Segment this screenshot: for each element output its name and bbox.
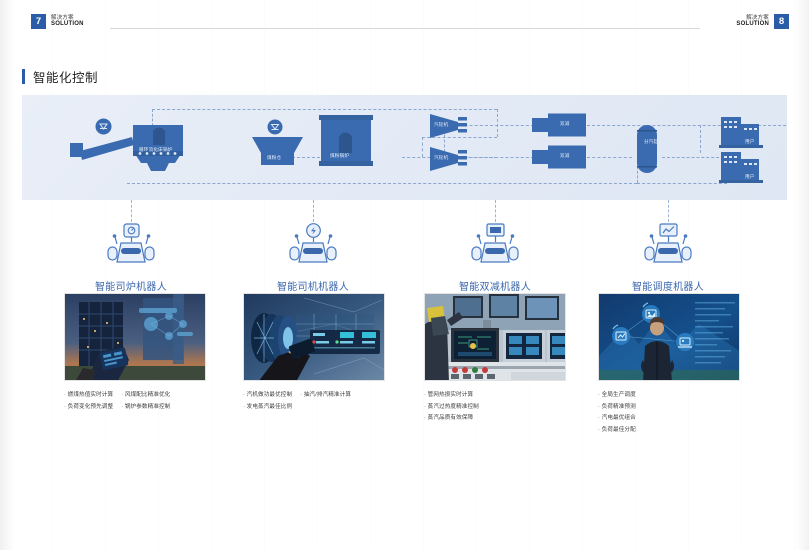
robot-driver-label: 智能司机机器人: [248, 278, 378, 293]
bullet-item: 风煤配比精准优化: [121, 390, 170, 398]
card-stoker-bullet-col-2: 风煤配比精准优化 锅炉参数精准控制: [121, 390, 170, 410]
reducer-2-label: 双减: [560, 153, 570, 159]
steam-turbine-1-node: 汽轮机: [428, 112, 472, 145]
slide-root: 7 解决方案 SOLUTION 解决方案 SOLUTION 8 智能化控制: [0, 0, 809, 550]
flow-line-user-bottom: [637, 183, 727, 184]
card-dispatch-photo[interactable]: [598, 293, 740, 381]
bullet-item: 蒸汽品质有效保障: [424, 413, 479, 421]
robot-driver[interactable]: 智能司机机器人: [248, 222, 378, 293]
bullet-item: 负荷精准预测: [598, 402, 636, 410]
user-1-label: 用户: [745, 139, 755, 145]
header-left-number-badge: 7: [31, 14, 46, 29]
user-2-node: 用户: [719, 150, 765, 189]
section-title: 智能化控制: [22, 67, 98, 86]
bullet-item: 蒸汽过热度精准控制: [424, 402, 479, 410]
robot-bolt-icon: [284, 222, 342, 268]
user-1-node: 用户: [719, 115, 765, 154]
robot-dispatch[interactable]: 智能调度机器人: [603, 222, 733, 293]
card-dispatch: 全局生产调度 负荷精准预测 汽电最优组合 负荷最佳分配: [598, 293, 740, 433]
card-double-reduction-bullets: 管网热损实时计算 蒸汽过热度精准控制 蒸汽品质有效保障: [424, 390, 566, 421]
card-double-reduction: 管网热损实时计算 蒸汽过热度精准控制 蒸汽品质有效保障: [424, 293, 566, 421]
steam-header-node: 分汽缸: [635, 123, 659, 180]
slide-header: 7 解决方案 SOLUTION 解决方案 SOLUTION 8: [0, 14, 809, 40]
coal-bunker-node: 煤粉仓: [250, 135, 305, 172]
flow-line-header-out: [662, 157, 724, 158]
flow-line-turbine-down: [497, 109, 498, 137]
user-2-label: 用户: [745, 174, 755, 180]
pulverized-coal-boiler-node: 煤粉锅炉: [317, 113, 375, 174]
bullet-item: 锅炉参数精准控制: [121, 402, 170, 410]
stem-to-double-reduction-robot: [495, 200, 496, 222]
reducer-1-node: 双减: [530, 113, 588, 142]
robot-stoker[interactable]: 智能司炉机器人: [66, 222, 196, 293]
robot-double-reduction-label: 智能双减机器人: [430, 278, 560, 293]
bullet-item: 负荷最佳分配: [598, 425, 636, 433]
header-left-en: SOLUTION: [51, 21, 84, 27]
steam-turbine-1-label: 汽轮机: [434, 122, 448, 128]
card-driver-bullet-col-2: 抽汽/排汽精准计算: [300, 390, 351, 410]
reducer-2-node: 双减: [530, 145, 588, 174]
bullet-item: 抽汽/排汽精准计算: [300, 390, 351, 398]
flow-line-reducer2-out: [587, 157, 632, 158]
process-flow-diagram: 循环流化床锅炉 煤粉仓: [22, 95, 787, 200]
robot-row: 智能司炉机器人 智能司机机器人: [0, 222, 809, 292]
bunker-sensor-icon: [267, 119, 283, 140]
bullet-item: 发电蒸汽最佳比例: [243, 402, 292, 410]
card-driver: 汽机做功最优控制 发电蒸汽最佳比例 抽汽/排汽精准计算: [243, 293, 385, 410]
bullet-item: 汽电最优组合: [598, 413, 636, 421]
flow-line-top: [152, 109, 497, 110]
pulverized-coal-boiler-label: 煤粉锅炉: [330, 153, 349, 159]
header-right-number-badge: 8: [774, 14, 789, 29]
steam-turbine-2-label: 汽轮机: [434, 155, 448, 161]
card-dispatch-bullets: 全局生产调度 负荷精准预测 汽电最优组合 负荷最佳分配: [598, 390, 740, 433]
robot-gauge-icon: [102, 222, 160, 268]
cfb-boiler-node: 循环流化床锅炉: [127, 117, 189, 165]
flow-line-header-feed: [700, 125, 701, 153]
card-driver-bullets: 汽机做功最优控制 发电蒸汽最佳比例 抽汽/排汽精准计算: [243, 390, 385, 410]
card-dispatch-bullet-col-1: 全局生产调度 负荷精准预测 汽电最优组合 负荷最佳分配: [598, 390, 636, 433]
bullet-item: 汽机做功最优控制: [243, 390, 292, 398]
header-right-en: SOLUTION: [736, 21, 769, 27]
coal-bunker-label: 煤粉仓: [267, 155, 281, 161]
bullet-item: 管网热损实时计算: [424, 390, 479, 398]
page-title: 智能化控制: [33, 67, 98, 86]
flow-line-return: [127, 183, 637, 184]
card-driver-photo[interactable]: [243, 293, 385, 381]
coal-conveyor: [70, 135, 136, 170]
title-accent-bar: [22, 69, 25, 84]
header-divider-rule: [110, 28, 700, 29]
robot-chart-icon: [639, 222, 697, 268]
cfb-boiler-label: 循环流化床锅炉: [139, 147, 173, 153]
steam-turbine-2-node: 汽轮机: [428, 145, 472, 178]
header-left-group: 7 解决方案 SOLUTION: [31, 14, 84, 29]
card-stoker-bullets: 燃煤热值实时计算 负荷变化预先调整 风煤配比精准优化 锅炉参数精准控制: [64, 390, 206, 410]
robot-dispatch-label: 智能调度机器人: [603, 278, 733, 293]
header-left-text: 解决方案 SOLUTION: [51, 16, 84, 28]
card-driver-bullet-col-1: 汽机做功最优控制 发电蒸汽最佳比例: [243, 390, 292, 410]
card-double-reduction-bullet-col-1: 管网热损实时计算 蒸汽过热度精准控制 蒸汽品质有效保障: [424, 390, 479, 421]
bullet-item: 负荷变化预先调整: [64, 402, 113, 410]
card-stoker-photo[interactable]: [64, 293, 206, 381]
card-stoker-bullet-col-1: 燃煤热值实时计算 负荷变化预先调整: [64, 390, 113, 410]
bullet-item: 燃煤热值实时计算: [64, 390, 113, 398]
header-right-group: 解决方案 SOLUTION 8: [736, 14, 789, 29]
card-stoker: 燃煤热值实时计算 负荷变化预先调整 风煤配比精准优化 锅炉参数精准控制: [64, 293, 206, 410]
stem-to-stoker-robot: [131, 200, 132, 222]
card-double-reduction-photo[interactable]: [424, 293, 566, 381]
header-right-text: 解决方案 SOLUTION: [736, 16, 769, 28]
reducer-1-label: 双减: [560, 121, 570, 127]
robot-double-reduction[interactable]: 智能双减机器人: [430, 222, 560, 293]
flow-line-boiler-riser: [422, 137, 423, 157]
stem-to-driver-robot: [313, 200, 314, 222]
card-row: 燃煤热值实时计算 负荷变化预先调整 风煤配比精准优化 锅炉参数精准控制: [0, 293, 809, 443]
robot-stoker-label: 智能司炉机器人: [66, 278, 196, 293]
bullet-item: 全局生产调度: [598, 390, 636, 398]
robot-monitor-icon: [466, 222, 524, 268]
steam-header-label: 分汽缸: [644, 139, 650, 145]
stem-to-dispatch-robot: [668, 200, 669, 222]
cfb-sensor-icon: [95, 118, 112, 140]
